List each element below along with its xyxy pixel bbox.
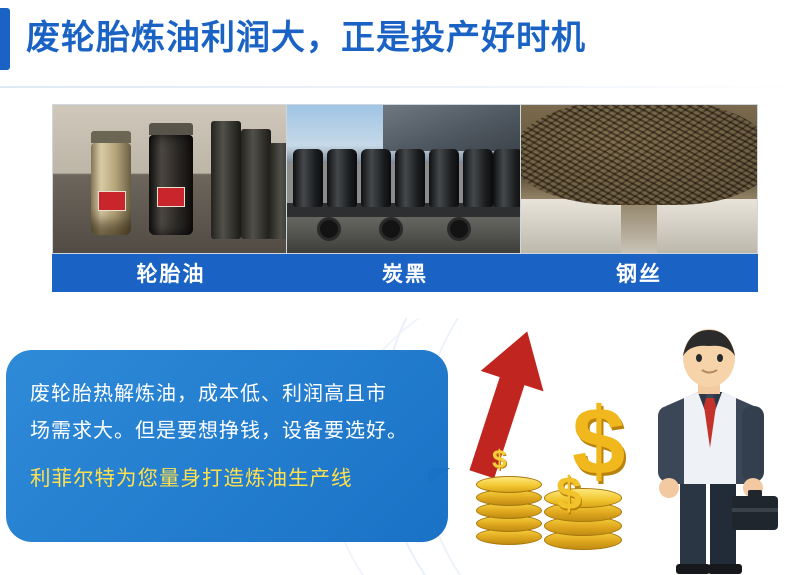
callout-bubble: 废轮胎热解炼油，成本低、利润高且市 场需求大。但是要想挣钱，设备要选好。 利菲尔…	[6, 350, 448, 542]
callout-line-1: 废轮胎热解炼油，成本低、利润高且市	[30, 376, 422, 413]
oil-bottle-light	[91, 143, 131, 235]
product-card[interactable]: 轮胎油	[52, 104, 290, 300]
woven-bag	[521, 199, 621, 253]
briefcase-icon	[732, 490, 778, 530]
dollar-sign-medium: $	[556, 470, 582, 516]
dollar-sign-small: $	[492, 446, 506, 472]
product-caption: 炭黑	[286, 254, 524, 292]
carbon-black-tank	[361, 149, 391, 207]
product-caption: 钢丝	[520, 254, 758, 292]
carbon-black-tank	[395, 149, 425, 207]
rubber-roll	[241, 129, 271, 239]
tyre-oil-bottles-photo	[52, 104, 290, 254]
callout-highlight: 利菲尔特为您量身打造炼油生产线	[30, 460, 422, 497]
rubber-roll	[211, 121, 241, 239]
bottle-label	[98, 191, 126, 211]
product-card[interactable]: 炭黑	[286, 104, 524, 300]
businessman-illustration	[636, 328, 786, 575]
promo-page: 废轮胎炼油利润大，正是投产好时机 轮胎油	[0, 0, 800, 575]
bottle-cap	[149, 123, 193, 135]
bottle-cap	[91, 131, 131, 143]
bottle-label	[157, 187, 185, 207]
carbon-black-tank	[293, 149, 323, 207]
callout-bubble-tail	[428, 468, 450, 484]
product-card-list: 轮胎油 炭黑	[0, 104, 800, 304]
factory-roof	[383, 105, 524, 151]
header: 废轮胎炼油利润大，正是投产好时机	[0, 0, 800, 88]
carbon-black-tank	[429, 149, 459, 207]
carbon-black-tank	[327, 149, 357, 207]
woven-bag	[657, 199, 757, 253]
callout-line-2: 场需求大。但是要想挣钱，设备要选好。	[30, 413, 422, 450]
truck-wheel	[379, 217, 403, 241]
promo-footer: 废轮胎热解炼油，成本低、利润高且市 场需求大。但是要想挣钱，设备要选好。 利菲尔…	[0, 318, 800, 575]
carbon-black-tank	[463, 149, 493, 207]
carbon-black-tank	[493, 149, 523, 207]
product-card[interactable]: 钢丝	[520, 104, 758, 300]
steel-wire-pile-photo	[520, 104, 758, 254]
header-accent-bar	[0, 8, 10, 70]
truck-wheel	[447, 217, 471, 241]
page-title: 废轮胎炼油利润大，正是投产好时机	[26, 14, 586, 62]
coin	[476, 476, 542, 493]
growth-arrow	[452, 328, 572, 478]
truck-wheel	[317, 217, 341, 241]
carbon-black-tanks-photo	[286, 104, 524, 254]
product-caption: 轮胎油	[52, 254, 290, 292]
oil-bottle-dark	[149, 135, 193, 235]
header-divider	[0, 86, 800, 88]
steel-wire-pile	[520, 104, 758, 205]
